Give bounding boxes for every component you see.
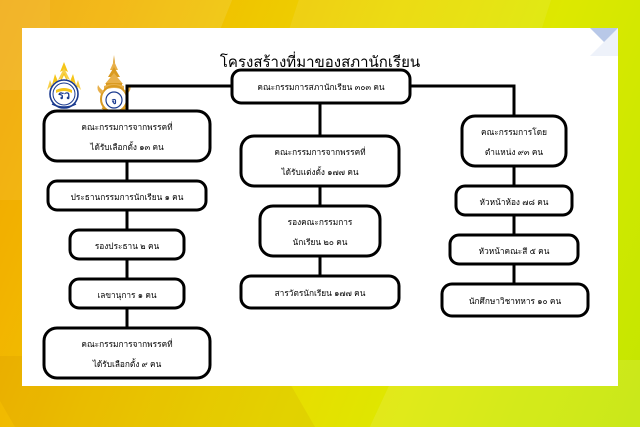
node-root-line-1: คณะกรรมการสภานักเรียน ๓๐๓ คน [257, 82, 385, 92]
node-left-3[interactable]: รองประธาน ๒ คน [70, 230, 184, 259]
content-sheet: รว จ โครงสร้างที่มาของสภานักเรียน [22, 28, 618, 386]
node-right-2[interactable]: หัวหน้าห้อง ๗๘ คน [456, 186, 572, 215]
node-left-4[interactable]: เลขานุการ ๑ คน [70, 279, 184, 308]
node-left-5-line-2: ได้รับเลือกตั้ง ๙ คน [92, 358, 162, 369]
node-right-4[interactable]: นักศึกษาวิชาทหาร ๑๐ คน [442, 284, 588, 316]
slide-canvas: รว จ โครงสร้างที่มาของสภานักเรียน [0, 0, 640, 427]
connector-root-to-left [127, 86, 232, 111]
node-mid-1-line-2: ได้รับแต่งตั้ง ๑๗๗ คน [280, 166, 358, 177]
node-right-4-line-1: นักศึกษาวิชาทหาร ๑๐ คน [469, 296, 562, 306]
node-mid-3[interactable]: สารวัตรนักเรียน ๑๗๗ คน [241, 276, 399, 308]
node-left-4-line-1: เลขานุการ ๑ คน [97, 290, 156, 301]
node-right-1-line-1: คณะกรรมการโดย [481, 127, 547, 137]
node-right-1[interactable]: คณะกรรมการโดย ตำแหน่ง ๙๓ คน [462, 116, 566, 166]
node-mid-1-line-1: คณะกรรมการจากพรรคที่ [274, 146, 365, 157]
node-left-1[interactable]: คณะกรรมการจากพรรคที่ ได้รับเลือกตั้ง ๑๓ … [44, 111, 210, 161]
node-left-1-line-2: ได้รับเลือกตั้ง ๑๓ คน [89, 141, 164, 152]
org-chart: คณะกรรมการสภานักเรียน ๓๐๓ คน คณะกรรมการจ… [22, 28, 618, 386]
node-root[interactable]: คณะกรรมการสภานักเรียน ๓๐๓ คน [232, 70, 410, 103]
node-left-3-line-1: รองประธาน ๒ คน [95, 241, 160, 251]
node-left-2[interactable]: ประธานกรรมการนักเรียน ๑ คน [48, 181, 206, 210]
node-right-2-line-1: หัวหน้าห้อง ๗๘ คน [480, 197, 549, 207]
node-left-2-line-1: ประธานกรรมการนักเรียน ๑ คน [71, 192, 184, 202]
node-right-3-line-1: หัวหน้าคณะสี ๕ คน [479, 246, 550, 256]
node-left-1-line-1: คณะกรรมการจากพรรคที่ [81, 121, 172, 132]
node-mid-1[interactable]: คณะกรรมการจากพรรคที่ ได้รับแต่งตั้ง ๑๗๗ … [241, 136, 399, 186]
node-mid-2-line-1: รองคณะกรรมการ [288, 217, 353, 227]
node-left-5-line-1: คณะกรรมการจากพรรคที่ [81, 338, 172, 349]
node-right-1-line-2: ตำแหน่ง ๙๓ คน [485, 147, 543, 157]
node-mid-3-line-1: สารวัตรนักเรียน ๑๗๗ คน [275, 288, 366, 298]
node-mid-2[interactable]: รองคณะกรรมการ นักเรียน ๒๐ คน [260, 206, 380, 256]
node-left-5[interactable]: คณะกรรมการจากพรรคที่ ได้รับเลือกตั้ง ๙ ค… [44, 328, 210, 378]
connector-root-to-right [410, 86, 514, 116]
node-mid-2-line-2: นักเรียน ๒๐ คน [293, 237, 348, 247]
node-right-3[interactable]: หัวหน้าคณะสี ๕ คน [450, 235, 578, 264]
